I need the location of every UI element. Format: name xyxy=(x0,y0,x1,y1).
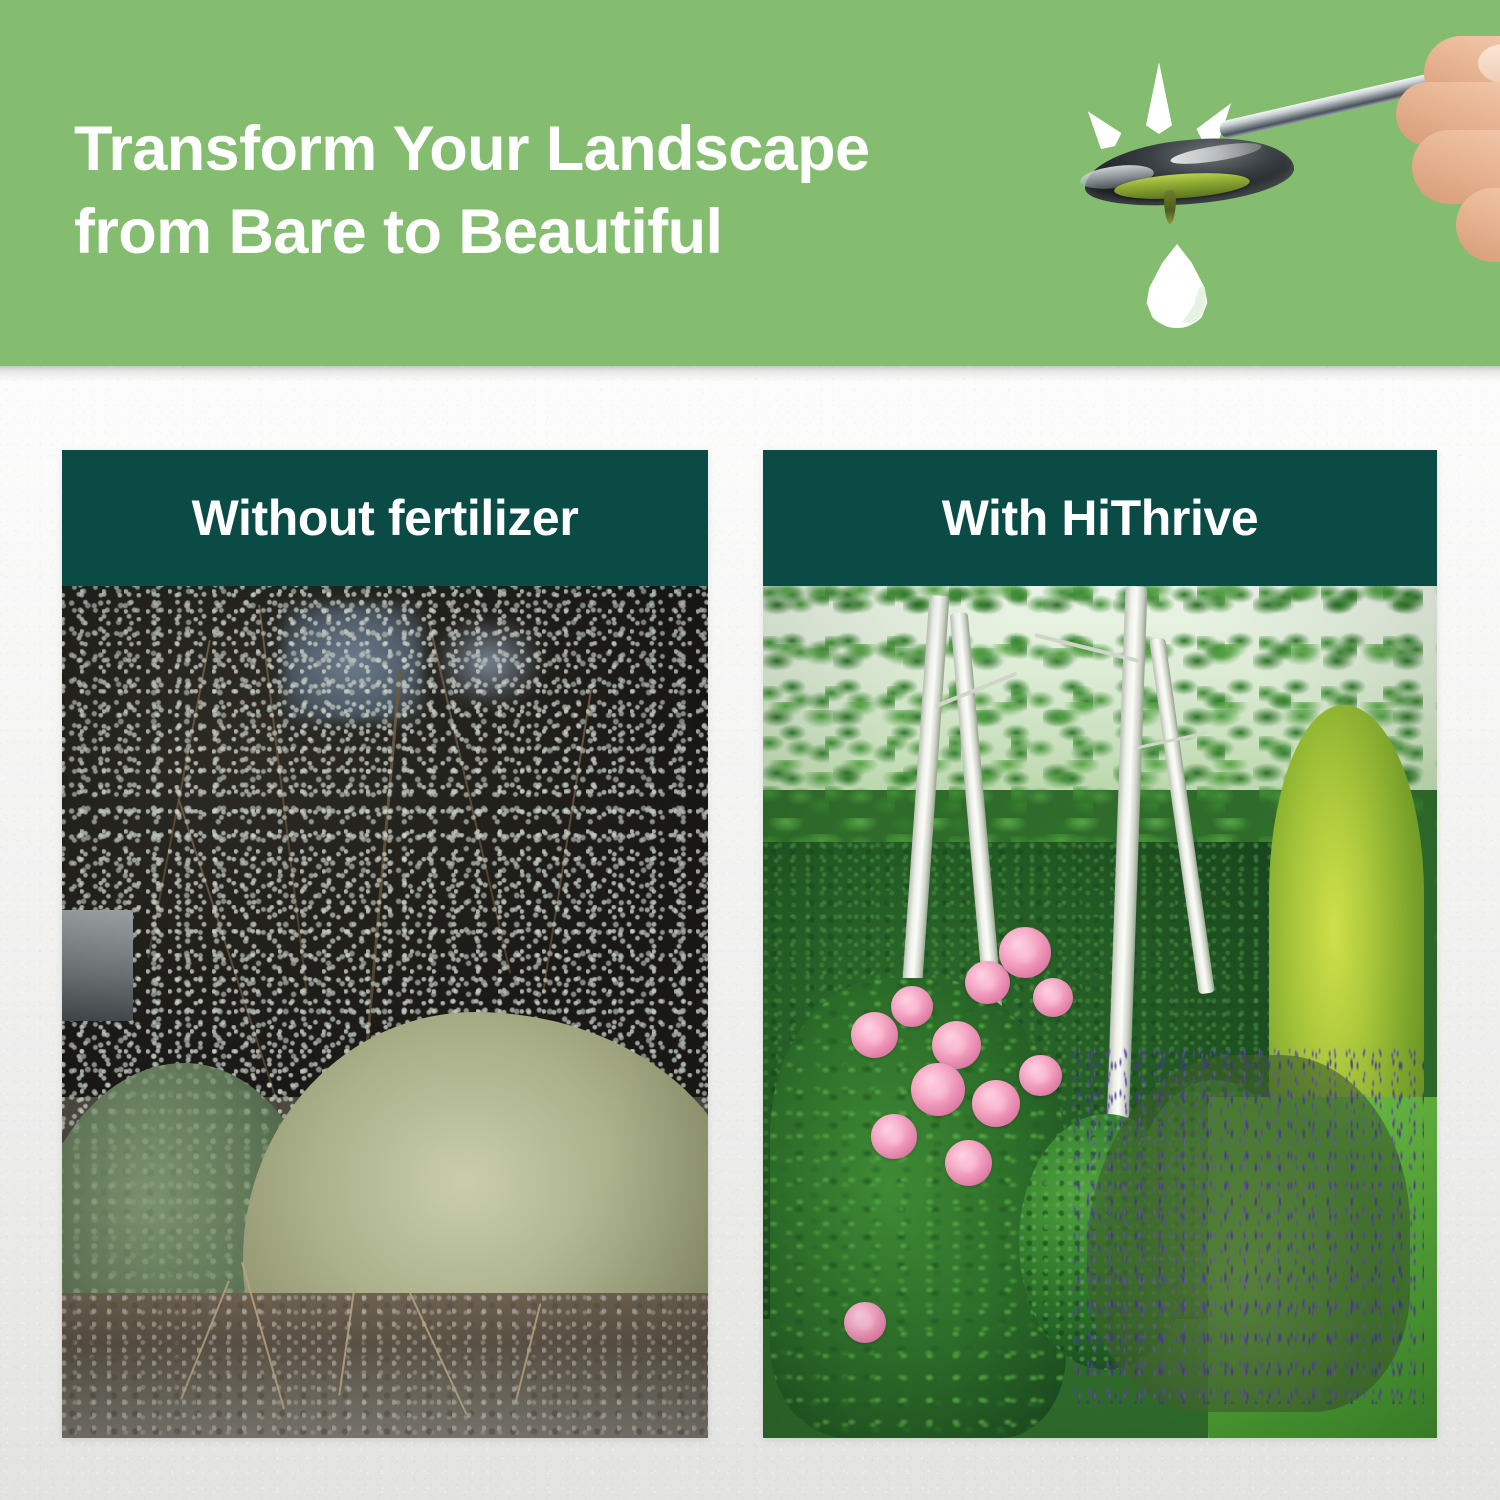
pink-rose xyxy=(851,1012,898,1058)
panel-photo-after xyxy=(763,586,1437,1438)
pink-rose xyxy=(972,1080,1021,1127)
after-photo xyxy=(763,586,1437,1438)
after-lavender-flowers xyxy=(1073,1046,1423,1404)
before-bare-soil-texture xyxy=(62,1293,708,1438)
before-metal-pot xyxy=(62,910,133,1021)
oil-drip-icon xyxy=(1164,190,1176,224)
hand-icon xyxy=(1360,30,1500,280)
banner-shadow xyxy=(0,366,1500,382)
panel-header-after: With HiThrive xyxy=(763,450,1437,586)
pink-rose xyxy=(932,1021,982,1070)
spoon-illustration xyxy=(1060,30,1500,350)
panel-label-before: Without fertilizer xyxy=(192,489,579,547)
comparison-panel-after: With HiThrive xyxy=(763,450,1437,1438)
panel-label-after: With HiThrive xyxy=(942,489,1259,547)
before-photo xyxy=(62,586,708,1438)
panel-photo-before xyxy=(62,586,708,1438)
sparkle-icon xyxy=(1146,62,1172,134)
headline-line-2: from Bare to Beautiful xyxy=(74,191,1074,274)
pink-rose xyxy=(945,1140,992,1186)
pink-rose xyxy=(871,1114,917,1158)
header-banner: Transform Your Landscape from Bare to Be… xyxy=(0,0,1500,366)
pink-rose xyxy=(911,1063,965,1116)
pink-rose xyxy=(844,1302,886,1343)
pink-rose xyxy=(999,927,1052,978)
headline-line-1: Transform Your Landscape xyxy=(74,114,870,184)
sparkle-icon xyxy=(1078,103,1126,154)
ad-creative: Transform Your Landscape from Bare to Be… xyxy=(0,0,1500,1500)
comparison-panel-before: Without fertilizer xyxy=(62,450,708,1438)
panel-header-before: Without fertilizer xyxy=(62,450,708,586)
page-title: Transform Your Landscape from Bare to Be… xyxy=(74,108,1074,274)
pink-rose xyxy=(891,986,933,1027)
pink-rose xyxy=(1033,978,1073,1017)
